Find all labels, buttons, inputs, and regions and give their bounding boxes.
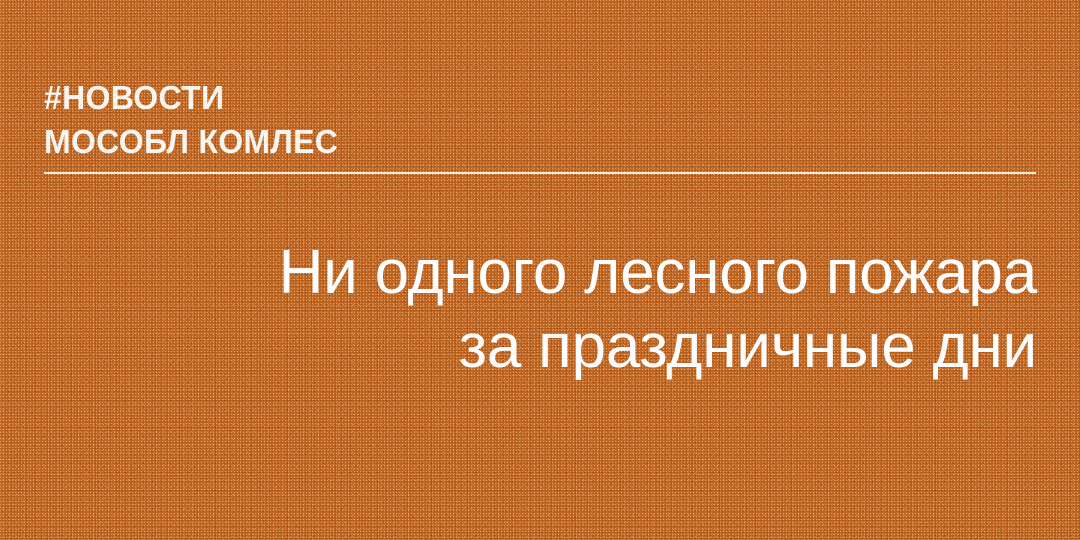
eyebrow-kicker: #НОВОСТИ МОСОБЛ КОМЛЕС bbox=[44, 76, 338, 164]
headline-line-1: Ни одного лесного пожара bbox=[237, 236, 1037, 310]
banner-content: #НОВОСТИ МОСОБЛ КОМЛЕС Ни одного лесного… bbox=[0, 0, 1080, 540]
news-banner-card: #НОВОСТИ МОСОБЛ КОМЛЕС Ни одного лесного… bbox=[0, 0, 1080, 540]
eyebrow-line-organization: МОСОБЛ КОМЛЕС bbox=[44, 120, 338, 164]
headline: Ни одного лесного пожара за праздничные … bbox=[237, 236, 1037, 384]
header-divider-rule bbox=[44, 172, 1036, 174]
headline-line-2: за праздничные дни bbox=[237, 310, 1037, 384]
eyebrow-line-hashtag: #НОВОСТИ bbox=[44, 76, 338, 120]
